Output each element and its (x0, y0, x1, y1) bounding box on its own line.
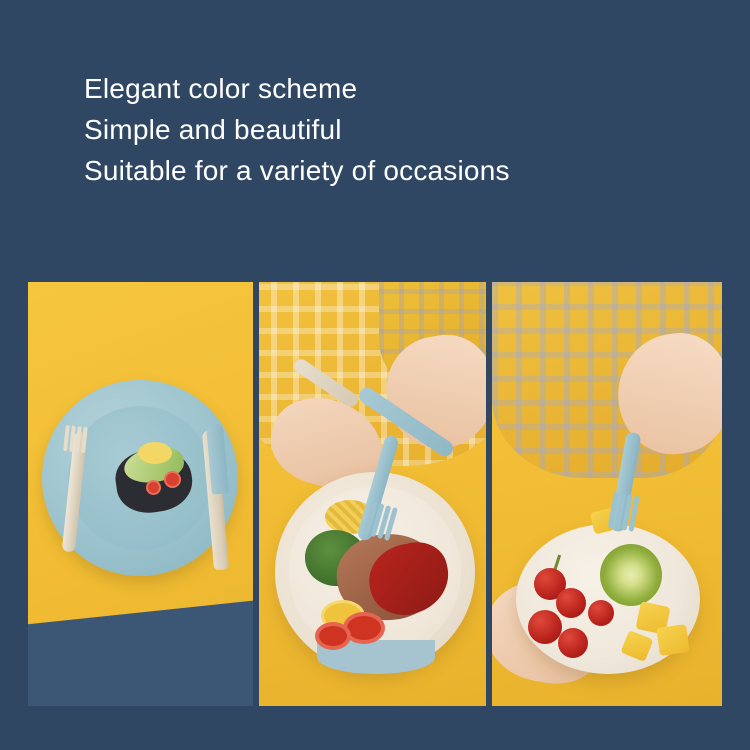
fork-tines (62, 425, 87, 461)
photo-fruit-plate (492, 282, 722, 706)
red-pepper-ring-2 (315, 622, 351, 650)
headline-line-3: Suitable for a variety of occasions (84, 150, 684, 191)
cherry-3 (528, 610, 562, 644)
headline-block: Elegant color scheme Simple and beautifu… (84, 68, 684, 191)
mango-cube-2 (656, 624, 690, 656)
product-poster: Elegant color scheme Simple and beautifu… (0, 0, 750, 750)
yellow-vegetable-garnish (138, 442, 172, 464)
cherry-2 (556, 588, 586, 618)
photo-steak-plate-hands (259, 282, 486, 706)
kiwi-slice (600, 544, 662, 606)
cherry-4 (558, 628, 588, 658)
tomato-slice-2 (146, 480, 161, 495)
photo-blue-plate-rice-vegetables (28, 282, 253, 706)
headline-line-2: Simple and beautiful (84, 109, 684, 150)
tomato-slice-1 (164, 471, 181, 488)
cherry-5 (588, 600, 614, 626)
headline-line-1: Elegant color scheme (84, 68, 684, 109)
photo-gallery (28, 282, 722, 706)
